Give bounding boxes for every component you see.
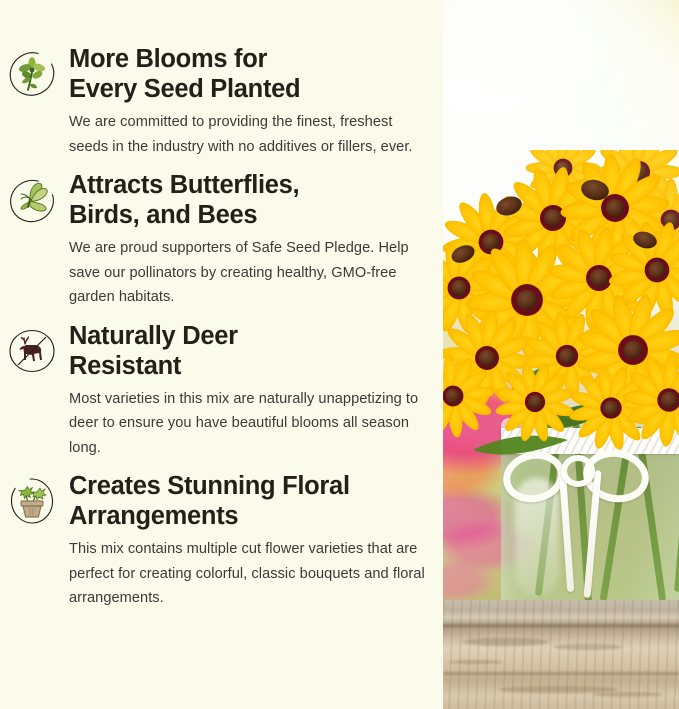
feature-item-more-blooms: More Blooms for Every Seed Planted We ar… bbox=[0, 44, 443, 159]
feature-item-floral-arrangements: Creates Stunning Floral Arrangements Thi… bbox=[0, 471, 443, 611]
feature-title-line2: Birds, and Bees bbox=[69, 201, 257, 229]
feature-title-line2: Resistant bbox=[69, 352, 181, 380]
feature-description: This mix contains multiple cut flower va… bbox=[69, 537, 433, 611]
feature-title: Naturally Deer Resistant bbox=[69, 321, 433, 381]
wooden-table bbox=[443, 600, 679, 709]
potted-plant-icon bbox=[6, 475, 58, 527]
feature-description: We are proud supporters of Safe Seed Ple… bbox=[69, 236, 433, 310]
butterfly-icon bbox=[6, 174, 58, 226]
feature-text-block: Creates Stunning Floral Arrangements Thi… bbox=[58, 471, 443, 611]
feature-title-line2: Every Seed Planted bbox=[69, 75, 300, 103]
feature-description: We are committed to providing the finest… bbox=[69, 110, 433, 159]
feature-item-deer-resistant: Naturally Deer Resistant Most varieties … bbox=[0, 321, 443, 461]
feature-title-line2: Arrangements bbox=[69, 502, 238, 530]
feature-title-line1: Attracts Butterflies, bbox=[69, 171, 299, 199]
feature-title-line1: Naturally Deer bbox=[69, 322, 238, 350]
feature-text-block: More Blooms for Every Seed Planted We ar… bbox=[58, 44, 443, 159]
feature-title: Attracts Butterflies, Birds, and Bees bbox=[69, 170, 433, 230]
flower-bloom-icon bbox=[6, 48, 58, 100]
feature-title: Creates Stunning Floral Arrangements bbox=[69, 471, 433, 531]
feature-list-page: More Blooms for Every Seed Planted We ar… bbox=[0, 0, 679, 709]
feature-text-block: Naturally Deer Resistant Most varieties … bbox=[58, 321, 443, 461]
feature-item-attracts-pollinators: Attracts Butterflies, Birds, and Bees We… bbox=[0, 170, 443, 310]
no-deer-icon bbox=[6, 325, 58, 377]
feature-title-line1: Creates Stunning Floral bbox=[69, 472, 350, 500]
black-eyed-susan-bouquet-photo bbox=[443, 0, 679, 709]
feature-description: Most varieties in this mix are naturally… bbox=[69, 387, 433, 461]
features-panel: More Blooms for Every Seed Planted We ar… bbox=[0, 0, 443, 709]
feature-text-block: Attracts Butterflies, Birds, and Bees We… bbox=[58, 170, 443, 310]
feature-title: More Blooms for Every Seed Planted bbox=[69, 44, 433, 104]
feature-title-line1: More Blooms for bbox=[69, 45, 267, 73]
